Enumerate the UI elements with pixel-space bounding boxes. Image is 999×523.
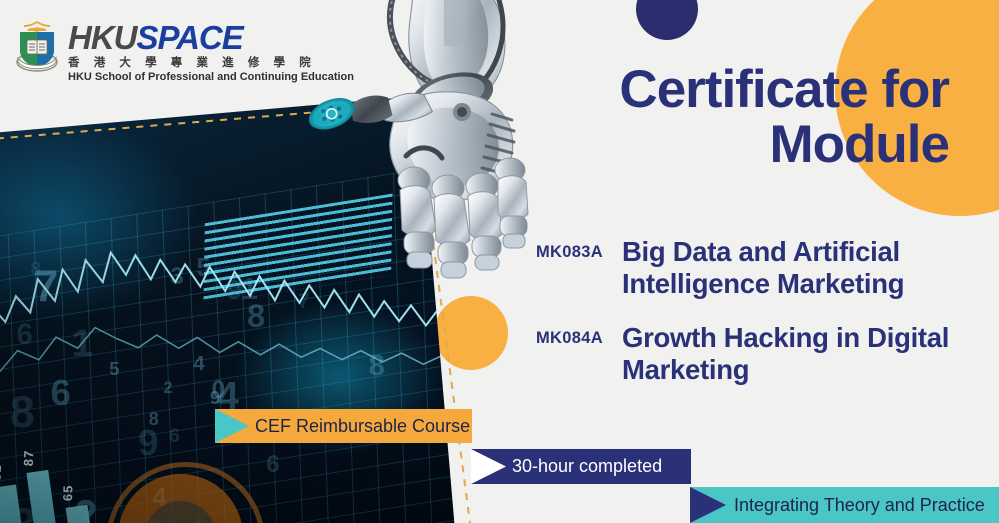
badge-cef-reimbursable: CEF Reimbursable Course: [215, 409, 472, 443]
wordmark-space: SPACE: [137, 19, 243, 56]
decorative-circle-orange-medium: [434, 296, 508, 370]
course-item: MK083A Big Data and Artificial Intellige…: [536, 236, 986, 300]
certificate-banner: 68018789345246780123567902468135792468 9…: [0, 0, 999, 523]
course-item: MK084A Growth Hacking in Digital Marketi…: [536, 322, 986, 386]
course-code: MK084A: [536, 322, 622, 348]
course-name: Growth Hacking in Digital Marketing: [622, 322, 986, 386]
badge-integrating-theory: Integrating Theory and Practice: [690, 487, 999, 523]
course-name: Big Data and Artificial Intelligence Mar…: [622, 236, 986, 300]
arrow-marker-icon: [215, 409, 249, 443]
course-list: MK083A Big Data and Artificial Intellige…: [536, 236, 986, 408]
badge-hours-completed: 30-hour completed: [471, 449, 691, 484]
badge-theory-label: Integrating Theory and Practice: [734, 495, 985, 516]
hku-crest-icon: [14, 18, 60, 72]
badge-cef-label: CEF Reimbursable Course: [255, 416, 470, 437]
badge-hours-label: 30-hour completed: [512, 456, 662, 477]
course-code: MK083A: [536, 236, 622, 262]
arrow-marker-icon: [471, 449, 506, 484]
decorative-circle-navy: [636, 0, 698, 40]
wordmark-hku: HKU: [68, 19, 137, 56]
page-title: Certificate for Module: [479, 62, 949, 172]
arrow-marker-icon: [690, 487, 726, 523]
